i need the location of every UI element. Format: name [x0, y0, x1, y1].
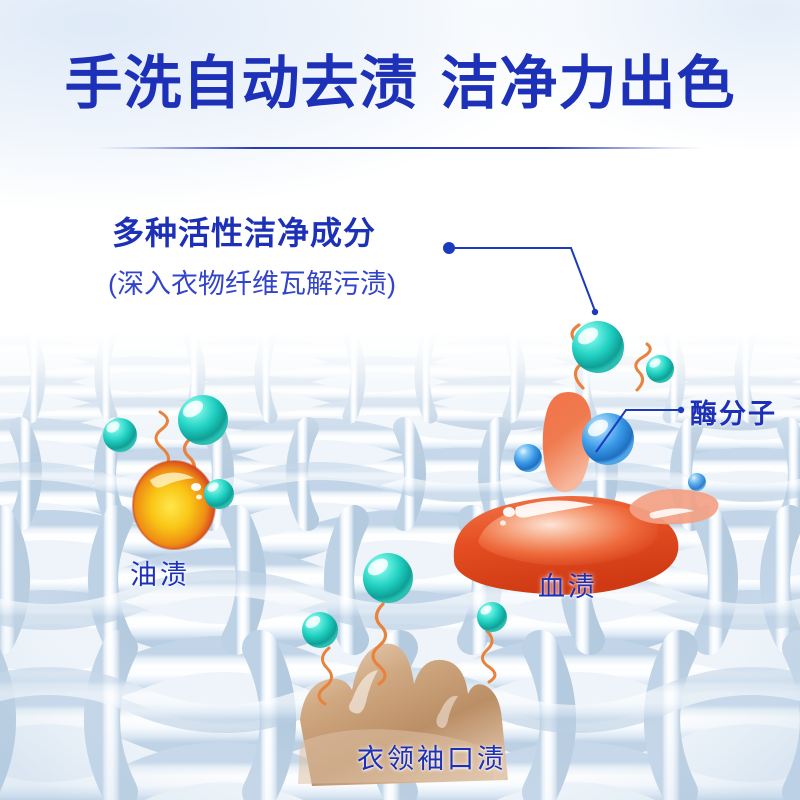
page-title: 手洗自动去渍洁净力出色	[0, 55, 800, 113]
header-divider	[96, 147, 704, 149]
headline-part-2: 洁净力出色	[441, 55, 736, 113]
ingredients-note: (深入衣物纤维瓦解污渍)	[108, 262, 396, 301]
stain-label-blood: 血渍	[538, 565, 598, 604]
stain-label-oil: 油渍	[130, 553, 190, 592]
poster-canvas: 手洗自动去渍洁净力出色 多种活性洁净成分 (深入衣物纤维瓦解污渍)	[0, 0, 800, 800]
stain-label-collar: 衣领袖口渍	[357, 737, 507, 776]
header-background-tint	[0, 0, 800, 300]
enzyme-callout-label: 酶分子	[690, 392, 777, 431]
ingredients-title: 多种活性洁净成分	[112, 208, 376, 254]
headline-part-1: 手洗自动去渍	[64, 55, 418, 113]
